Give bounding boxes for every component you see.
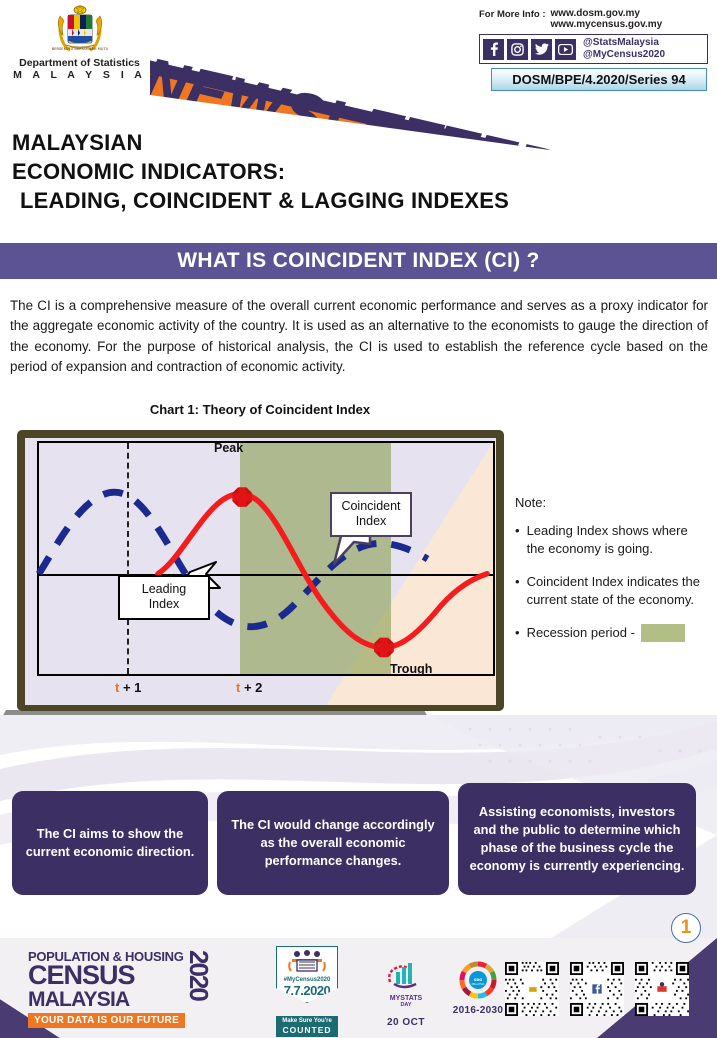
counted-badge: Make Sure You're COUNTED <box>276 1016 338 1037</box>
chart-plot-area <box>37 441 495 676</box>
note-text-coincident: Coincident Index indicates the current s… <box>527 573 707 610</box>
header-info: For More Info : www.dosm.gov.my www.myce… <box>479 8 711 91</box>
highlight-card: The CI would change accordingly as the o… <box>217 791 449 895</box>
x-tick-t-plus-2: t + 2 <box>236 680 262 695</box>
peak-marker <box>228 483 256 511</box>
qr-mycensus-icon[interactable] <box>635 962 689 1016</box>
more-info-label: For More Info : <box>479 8 546 20</box>
note-item: • Leading Index shows where the economy … <box>515 522 707 559</box>
coincident-index-callout: Coincident Index <box>330 492 412 537</box>
title-line-3: LEADING, COINCIDENT & LAGGING INDEXES <box>12 186 652 215</box>
intro-paragraph: The CI is a comprehensive measure of the… <box>10 296 708 378</box>
info-urls: www.dosm.gov.my www.mycensus.gov.my <box>551 8 663 30</box>
highlight-card: The CI aims to show the current economic… <box>12 791 208 895</box>
mystats-sub: DAY <box>375 1002 437 1008</box>
page-number: 1 <box>671 913 701 943</box>
census-tagline: YOUR DATA IS OUR FUTURE <box>28 1013 185 1028</box>
note-heading: Note: <box>515 495 707 510</box>
sdg-logo: SDG MALAYSIA 2016-2030 <box>443 960 513 1016</box>
svg-text:BERSEKUTU BERTAMBAH MUTU: BERSEKUTU BERTAMBAH MUTU <box>51 47 108 51</box>
more-info-row: For More Info : www.dosm.gov.my www.myce… <box>479 8 711 30</box>
dosm-logo: BERSEKUTU BERTAMBAH MUTU Department of S… <box>12 4 147 90</box>
x-tick-t-plus-1: t + 1 <box>115 680 141 695</box>
counted-text: COUNTED <box>277 1025 337 1035</box>
coincident-callout-line1: Coincident <box>339 499 403 514</box>
chart-note: Note: • Leading Index shows where the ec… <box>515 495 707 656</box>
leading-callout-line1: Leading <box>127 582 201 597</box>
title-line-1: MALAYSIAN <box>12 128 652 157</box>
sdg-wheel-icon: SDG MALAYSIA <box>458 960 498 1000</box>
trough-marker <box>370 634 398 662</box>
highlight-card: Assisting economists, investors and the … <box>458 783 696 895</box>
bullet-icon: • <box>515 624 520 643</box>
mystats-date: 20 OCT <box>375 1017 437 1028</box>
census-line2: CENSUS <box>28 963 208 989</box>
peak-label: Peak <box>214 441 243 455</box>
page-title: MALAYSIAN ECONOMIC INDICATORS: LEADING, … <box>12 128 652 215</box>
mycensus-badge-top: #MyCensus2020 7.7.2020 <box>276 946 338 1003</box>
youtube-icon[interactable] <box>555 39 576 60</box>
highlight-cards: The CI aims to show the current economic… <box>12 783 705 895</box>
census-line3: MALAYSIA <box>28 989 208 1010</box>
social-handles: @StatsMalaysia @MyCensus2020 <box>583 37 665 61</box>
recession-color-swatch <box>641 624 685 642</box>
mycensus-date: 7.7.2020 <box>279 983 335 998</box>
qr-facebook-icon[interactable] <box>570 962 624 1016</box>
note-recession-label: Recession period - <box>527 625 635 640</box>
twitter-icon[interactable] <box>531 39 552 60</box>
malaysia-coat-of-arms-icon: BERSEKUTU BERTAMBAH MUTU <box>48 4 112 56</box>
counted-top-text: Make Sure You're <box>282 1018 332 1024</box>
note-item: • Recession period - <box>515 624 707 643</box>
mycensus-date-badge: #MyCensus2020 7.7.2020 Make Sure You're … <box>276 946 338 1037</box>
newsletter-page: NEWSLETTER BERSE <box>0 0 717 1038</box>
handle-mycensus2020: @MyCensus2020 <box>583 49 665 61</box>
mystats-label: MYSTATS <box>375 995 437 1002</box>
section-heading-text: WHAT IS COINCIDENT INDEX (CI) ? <box>177 249 539 273</box>
bullet-icon: • <box>515 522 520 559</box>
handle-statsmalaysia: @StatsMalaysia <box>583 37 665 49</box>
bullet-icon: • <box>515 573 520 610</box>
chart-x-axis: t + 1 t + 2 <box>37 678 495 700</box>
link-mycensus[interactable]: www.mycensus.gov.my <box>551 19 663 30</box>
leading-index-callout: Leading Index <box>118 575 210 620</box>
section-heading-bar: WHAT IS COINCIDENT INDEX (CI) ? <box>0 243 717 279</box>
mystats-day-logo: MYSTATS DAY 20 OCT <box>375 960 437 1028</box>
note-text-recession: Recession period - <box>527 624 707 643</box>
chart-title: Chart 1: Theory of Coincident Index <box>0 402 520 417</box>
leading-callout-line2: Index <box>127 597 201 612</box>
census-family-icon <box>287 950 327 972</box>
coincident-callout-line2: Index <box>339 514 403 529</box>
svg-text:SDG: SDG <box>474 978 483 982</box>
link-dosm[interactable]: www.dosm.gov.my <box>551 8 663 19</box>
title-line-2: ECONOMIC INDICATORS: <box>12 157 652 186</box>
dosm-logo-line1: Department of Statistics <box>12 57 147 69</box>
mystats-icon <box>384 960 428 990</box>
svg-text:MALAYSIA: MALAYSIA <box>472 982 485 986</box>
facebook-icon[interactable] <box>483 39 504 60</box>
instagram-icon[interactable] <box>507 39 528 60</box>
page-footer: POPULATION & HOUSING CENSUS MALAYSIA 202… <box>0 938 717 1038</box>
sdg-date: 2016-2030 <box>443 1005 513 1016</box>
census-year: 2020 <box>188 950 210 1000</box>
note-item: • Coincident Index indicates the current… <box>515 573 707 610</box>
qr-dosm-icon[interactable] <box>505 962 559 1016</box>
social-links-box: @StatsMalaysia @MyCensus2020 <box>479 34 708 64</box>
series-badge: DOSM/BPE/4.2020/Series 94 <box>491 68 707 91</box>
census-2020-logo: POPULATION & HOUSING CENSUS MALAYSIA 202… <box>28 950 208 1028</box>
note-text-leading: Leading Index shows where the economy is… <box>527 522 707 559</box>
chart-series-svg <box>39 443 493 674</box>
dosm-logo-line2: M A L A Y S I A <box>12 69 147 81</box>
trough-label: Trough <box>390 662 432 676</box>
